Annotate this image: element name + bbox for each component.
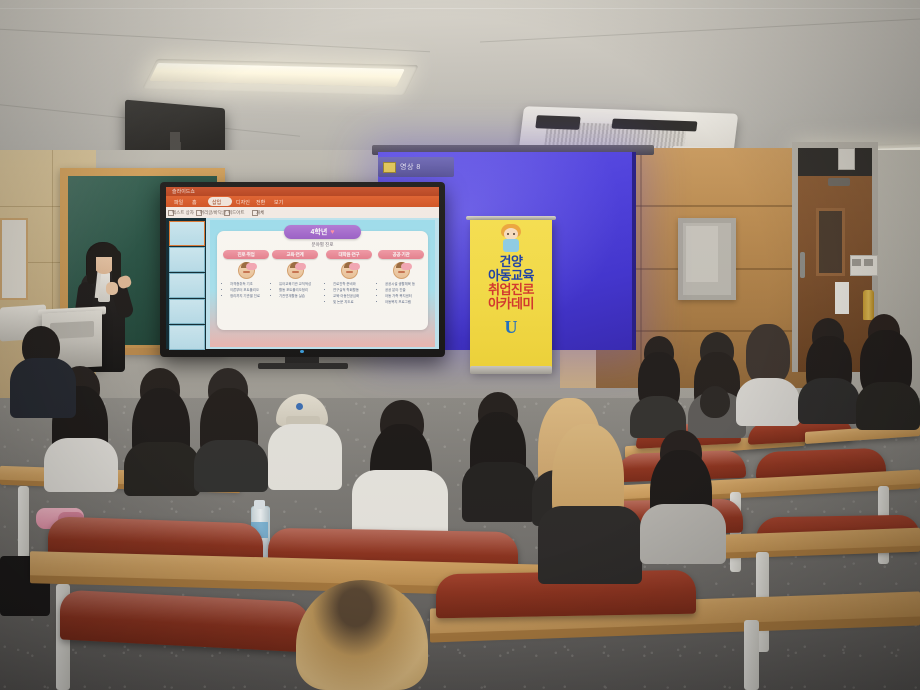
student-torso (462, 462, 536, 522)
slide-bullet: 아동 가족 복지센터 (385, 294, 424, 299)
cap-logo-icon (296, 403, 303, 410)
fire-extinguisher (863, 290, 874, 320)
banner-base (470, 366, 552, 374)
slide-column-heading: 대학원·연구 (339, 252, 360, 258)
slide-title: 4학년 (311, 227, 328, 237)
room-sign: 영상 8 (378, 157, 454, 177)
classroom-scene: 영상 8 슬라이드쇼 파일 홈 삽입 디자인 전환 보기 텍스트 상자 머리글/… (0, 0, 920, 690)
slide-title-pill: 4학년 ♥ (284, 225, 361, 239)
speech-bubble-icon (295, 263, 306, 270)
desk-leg (744, 620, 759, 690)
slide-column: 공공·기관 공공시설 생활체육 등 공공 분야 진출 아동 가족 복지센터 아동… (378, 250, 424, 306)
slide-column-heading-pill: 대학원·연구 (326, 250, 372, 259)
banner-line-2: 아동교육 (488, 269, 534, 283)
slide-bullet: 활동 포트폴리오정리 (279, 288, 318, 293)
slide-thumbnail[interactable] (169, 325, 205, 350)
light-switch[interactable] (852, 259, 861, 266)
slide-thumbnail[interactable] (169, 273, 205, 298)
app-titlebar (166, 187, 439, 196)
slide-column-heading-pill: 교육·연계 (272, 250, 318, 259)
mascot-eye (507, 233, 509, 235)
power-led-icon (300, 350, 304, 353)
presenter-hair-side (87, 250, 96, 284)
ceiling-seam (0, 8, 920, 9)
app-title: 슬라이드쇼 (172, 188, 195, 195)
student-torso (194, 440, 268, 492)
alarm-box (838, 148, 855, 170)
slide-thumbnail[interactable] (169, 247, 205, 272)
slide-column-heading: 진로·취업 (237, 252, 254, 258)
slide-column-heading-pill: 진로·취업 (223, 250, 269, 259)
banner-line-3: 취업진로 (488, 283, 534, 297)
slide-bullet: 이론부터 포트폴리오 (230, 288, 269, 293)
slide-subtitle: 분야별 진로 (284, 242, 361, 248)
banner-line-1: 건양 (500, 255, 523, 269)
bottle-cap (254, 500, 265, 509)
student-torso (10, 358, 76, 418)
light-switch[interactable] (864, 259, 873, 266)
door-transom (798, 148, 872, 176)
student-avatar-icon (341, 262, 358, 279)
slide-bullet: 진로진학 준비와 (333, 282, 372, 287)
speech-bubble-icon (401, 263, 412, 270)
door-glass-panel (816, 208, 845, 276)
slide-column-body: 공공시설 생활체육 등 공공 분야 진출 아동 가족 복지센터 아동복지 프로그… (378, 282, 424, 305)
student-head (700, 386, 730, 418)
student-torso (856, 382, 920, 430)
ribbon-tab-transitions[interactable]: 전환 (256, 199, 265, 206)
ribbon-tab-home[interactable]: 홈 (192, 199, 197, 206)
student-torso (124, 442, 200, 496)
slide-column-body: 진로진학 준비와 연구실적 학회활동 교육·아동전공심화 및 논문 지도로 (326, 282, 372, 305)
tv-stand-base (258, 363, 348, 369)
student-torso (44, 438, 118, 492)
slide-column-heading: 공공·기관 (392, 252, 409, 258)
mascot-eye (513, 233, 515, 235)
ribbon-tab-file[interactable]: 파일 (174, 199, 183, 206)
toolbar-item-header-footer[interactable]: 머리글/바닥글 (200, 210, 226, 216)
toolbar-item-textbox[interactable]: 텍스트 상자 (172, 210, 194, 216)
roll-up-banner: 건양 아동교육 취업진로 아카데미 U (470, 220, 552, 372)
wall-notice-board (0, 218, 28, 300)
door-closer (828, 178, 850, 186)
slide-bullet: 유아교육기관 교직적성 (279, 282, 318, 287)
slide-bullet: 공공시설 생활체육 등 (385, 282, 424, 287)
ribbon-tab-view[interactable]: 보기 (274, 199, 283, 206)
ribbon-tab-insert[interactable]: 삽입 (212, 199, 221, 206)
toolbar-item-object[interactable]: 개체 (256, 210, 264, 216)
speech-bubble-icon (349, 263, 360, 270)
slide-column-body: 유아교육기관 교직적성 활동 포트폴리오정리 기관연계활동 실습 (272, 282, 318, 299)
presenter-hand (106, 282, 118, 295)
ac-vane (535, 115, 580, 130)
mascot-body (503, 239, 519, 252)
slide-thumbnail[interactable] (169, 299, 205, 324)
projection-screen-edge (632, 152, 636, 350)
student-avatar-icon (238, 262, 255, 279)
mascot-icon (498, 224, 524, 252)
slide-bullet: 및 논문 지도로 (333, 300, 372, 305)
slide-column-heading: 교육·연계 (286, 252, 303, 258)
student-torso (736, 378, 800, 426)
door-handle[interactable] (800, 252, 805, 278)
slide-column: 대학원·연구 진로진학 준비와 연구실적 학회활동 교육·아동전공심화 및 논문… (326, 250, 372, 306)
slide-bullet: 자격증취득 기초 (230, 282, 269, 287)
student-torso (538, 506, 642, 584)
room-sign-label: 영상 8 (400, 162, 421, 172)
student-hair (746, 324, 790, 384)
slide-bullet: 정리까지 기관별 진로 (230, 294, 269, 299)
ribbon-tab-design[interactable]: 디자인 (236, 199, 250, 206)
banner-logo: U (505, 317, 518, 338)
slide-column: 교육·연계 유아교육기관 교직적성 활동 포트폴리오정리 기관연계활동 실습 (272, 250, 318, 300)
slide-bullet: 공공 분야 진출 (385, 288, 424, 293)
slide-thumbnail[interactable] (169, 221, 205, 246)
slide-bullet: 기관연계활동 실습 (279, 294, 318, 299)
slide-bullet: 교육·아동전공심화 (333, 294, 372, 299)
wall-sign (835, 282, 849, 314)
student-torso (268, 424, 342, 490)
student-avatar-icon (287, 262, 304, 279)
student-avatar-icon (393, 262, 410, 279)
slide-column-body: 자격증취득 기초 이론부터 포트폴리오 정리까지 기관별 진로 (223, 282, 269, 299)
heart-icon: ♥ (330, 229, 334, 236)
slide-bullet: 아동복지 프로그램 (385, 300, 424, 305)
toolbar-item-wordart[interactable]: 워드아트 (228, 210, 245, 216)
app-ribbon (166, 196, 439, 207)
student-torso (798, 378, 860, 424)
wood-seam (640, 148, 642, 388)
projector-icon (383, 162, 396, 173)
speech-bubble-icon (246, 263, 257, 270)
slide-column-heading-pill: 공공·기관 (378, 250, 424, 259)
slide-bullet: 연구실적 학회활동 (333, 288, 372, 293)
banner-line-4: 아카데미 (488, 297, 534, 311)
wall-access-panel-inner (686, 226, 718, 282)
student-torso (640, 504, 726, 564)
slide-column: 진로·취업 자격증취득 기초 이론부터 포트폴리오 정리까지 기관별 진로 (223, 250, 269, 300)
